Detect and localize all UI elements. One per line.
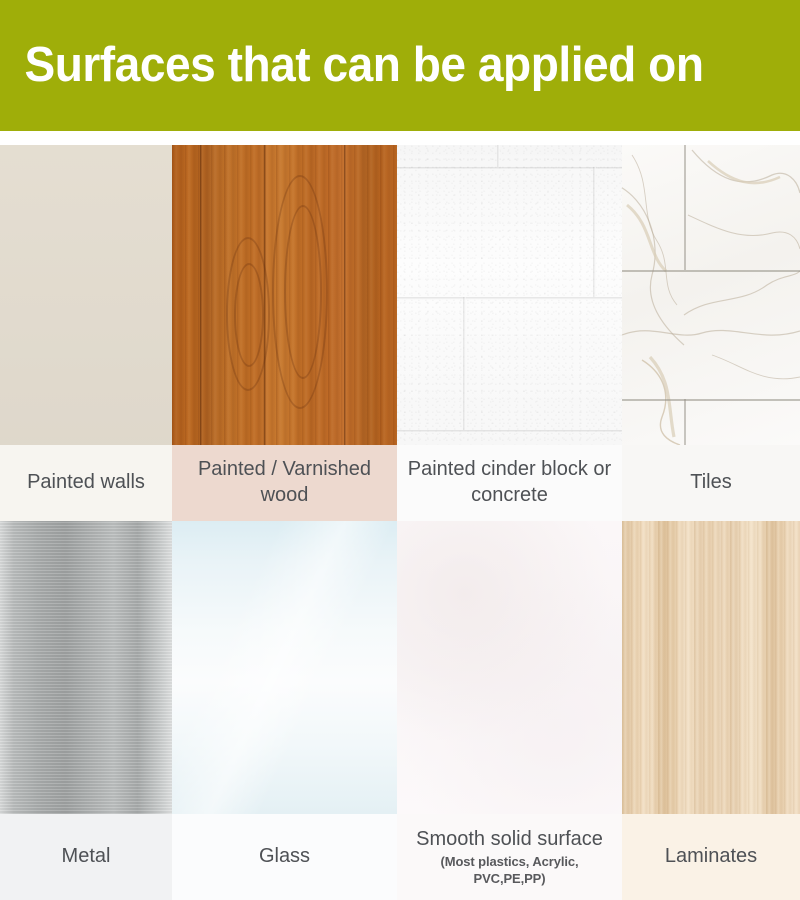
mortar-joint-vertical (497, 145, 500, 167)
surface-card-painted-walls[interactable]: Painted walls (0, 145, 172, 521)
surface-label: Painted walls (27, 470, 145, 496)
tile-grout-line (684, 399, 686, 445)
header-divider (0, 131, 800, 145)
cinder-block-swatch (397, 145, 622, 445)
surface-card-painted-cinder-block[interactable]: Painted cinder block or concrete (397, 145, 622, 521)
wood-plank-seam (200, 145, 202, 445)
solid-surface-swatch (397, 521, 622, 814)
mortar-joint-vertical (593, 167, 596, 297)
surface-label: Glass (259, 844, 310, 870)
mortar-joint-horizontal (397, 430, 622, 433)
wood-grain-knot (284, 205, 322, 379)
surface-card-painted-varnished-wood[interactable]: Painted / Varnished wood (172, 145, 397, 521)
surface-caption: Painted walls (0, 445, 172, 521)
surface-label: Smooth solid surface (416, 827, 603, 853)
surface-card-smooth-solid-surface[interactable]: Smooth solid surface (Most plastics, Acr… (397, 521, 622, 900)
wood-plank-seam (344, 145, 346, 445)
mortar-joint-vertical (463, 297, 466, 430)
brushed-metal-swatch (0, 521, 172, 814)
surface-card-metal[interactable]: Metal (0, 521, 172, 900)
mortar-joint-horizontal (397, 167, 622, 170)
tile-grout-line (622, 399, 800, 401)
glass-swatch (172, 521, 397, 814)
surface-label: Laminates (665, 844, 757, 870)
laminate-wood-swatch (622, 521, 800, 814)
surface-label: Painted cinder block or concrete (403, 457, 616, 508)
page-title: Surfaces that can be applied on (0, 41, 704, 90)
surface-card-glass[interactable]: Glass (172, 521, 397, 900)
tile-grout-line (684, 145, 686, 270)
wood-grain-knot (234, 263, 264, 367)
surface-card-tiles[interactable]: Tiles (622, 145, 800, 521)
surface-label: Painted / Varnished wood (178, 457, 391, 508)
surface-caption: Glass (172, 814, 397, 900)
varnished-wood-swatch (172, 145, 397, 445)
surface-caption: Painted / Varnished wood (172, 445, 397, 521)
surface-caption: Painted cinder block or concrete (397, 445, 622, 521)
mortar-joint-horizontal (397, 297, 622, 300)
painted-wall-swatch (0, 145, 172, 445)
surface-card-laminates[interactable]: Laminates (622, 521, 800, 900)
surface-caption: Smooth solid surface (Most plastics, Acr… (397, 814, 622, 900)
surface-caption: Tiles (622, 445, 800, 521)
surface-caption: Metal (0, 814, 172, 900)
surface-grid: Painted walls Painted / Varnished wood (0, 145, 800, 900)
surface-caption: Laminates (622, 814, 800, 900)
surface-sublabel: (Most plastics, Acrylic, PVC,PE,PP) (403, 854, 616, 887)
surface-label: Metal (62, 844, 111, 870)
surfaces-infographic: Surfaces that can be applied on Painted … (0, 0, 800, 900)
header-banner: Surfaces that can be applied on (0, 0, 800, 131)
marble-tile-swatch (622, 145, 800, 445)
tile-grout-line (622, 270, 800, 272)
surface-label: Tiles (690, 470, 731, 496)
